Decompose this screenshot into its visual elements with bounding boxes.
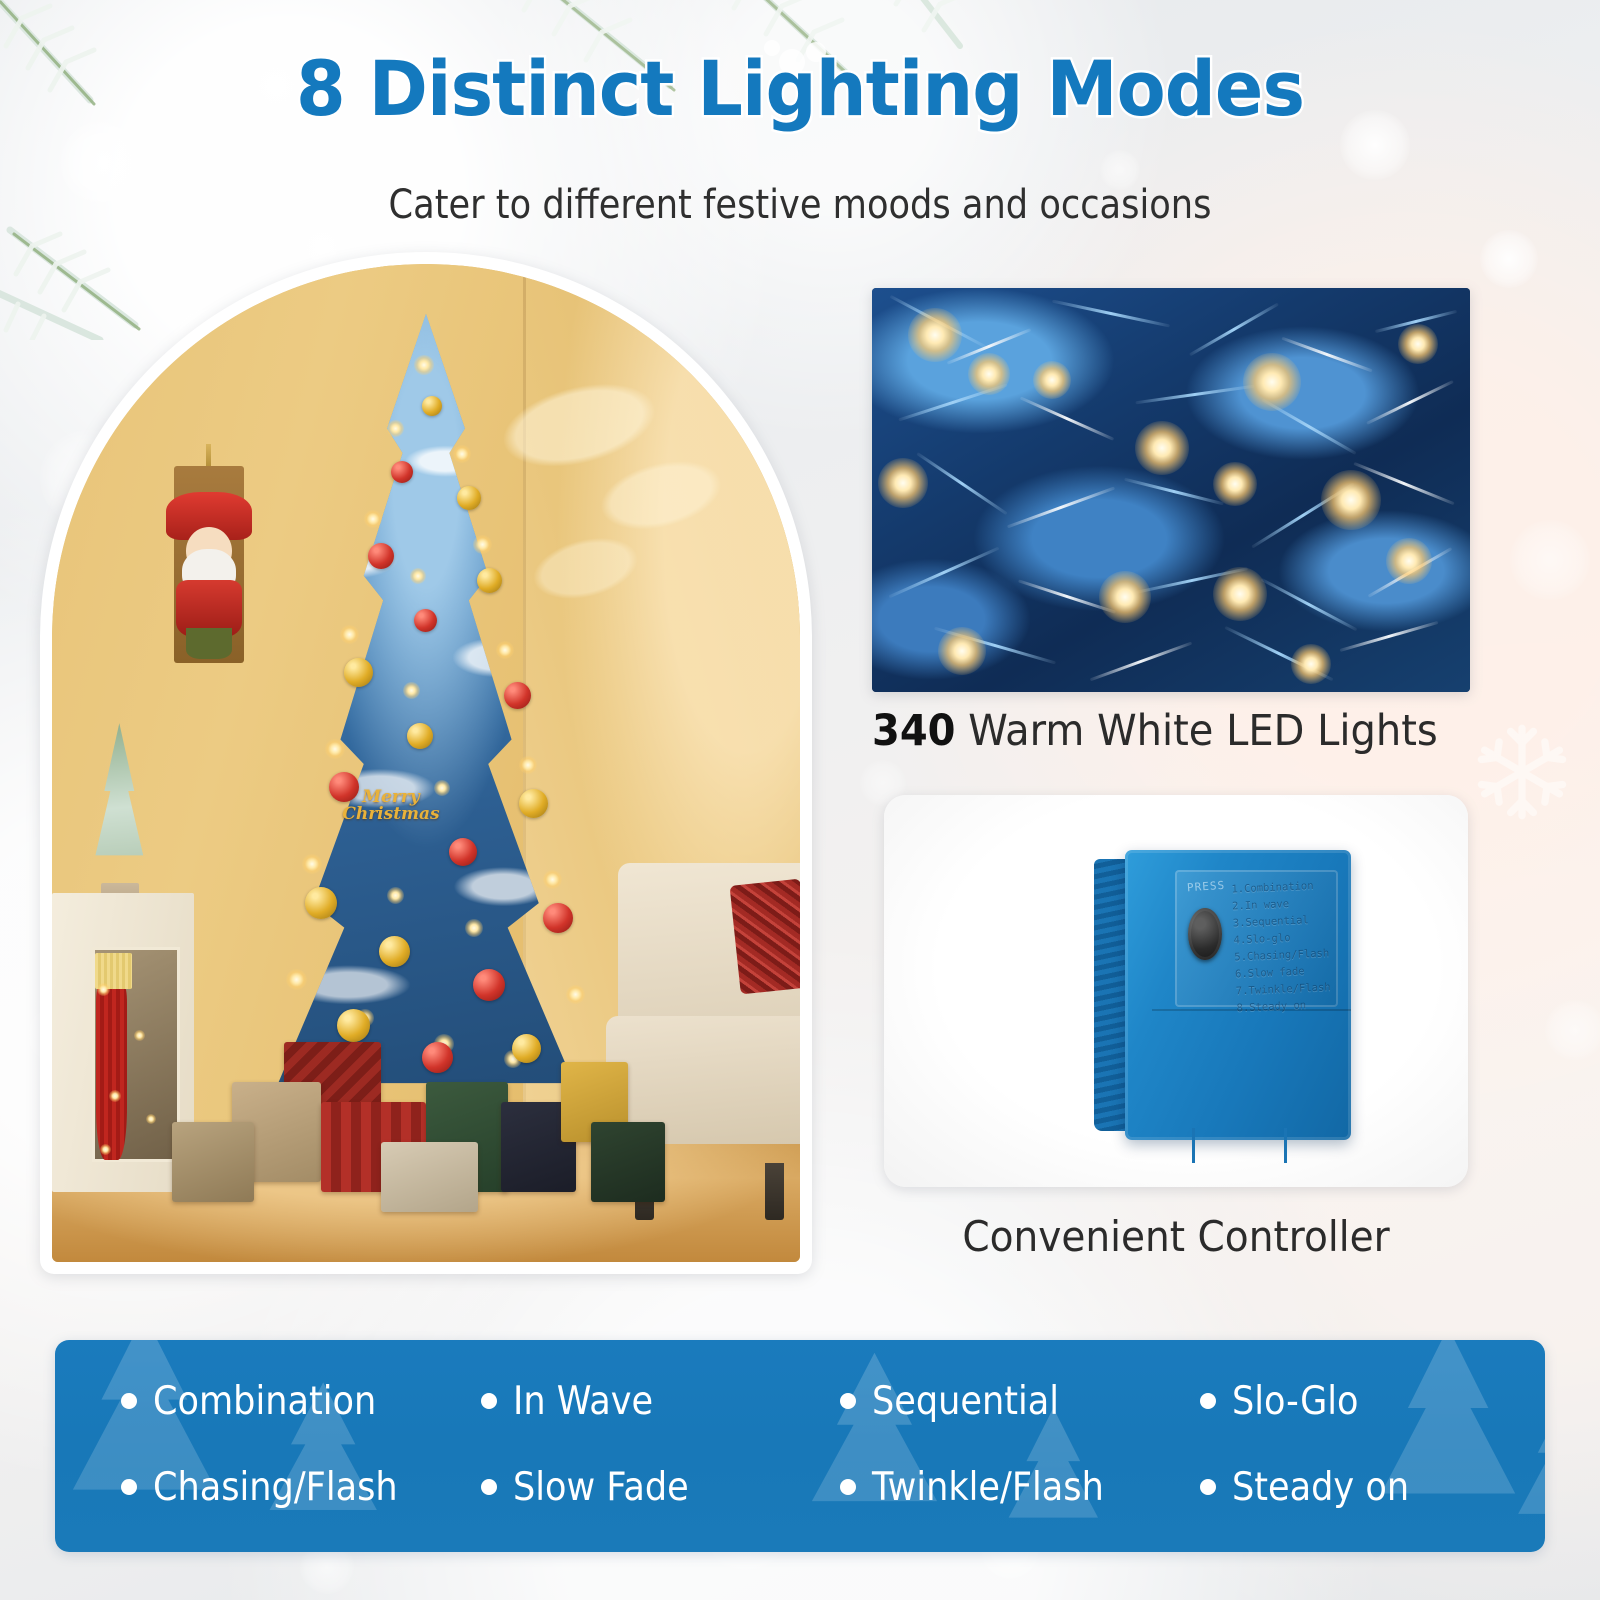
controller-caption: Convenient Controller [904,1212,1447,1261]
page-subtitle: Cater to different festive moods and occ… [96,182,1504,228]
led-count-label: Warm White LED Lights [955,706,1437,756]
controller-modes-list: 1.Combination 2.In wave 3.Sequential 4.S… [1231,876,1350,1017]
mode-label: Steady on [1232,1465,1409,1510]
led-closeup-photo [872,288,1470,692]
mode-item-steady-on[interactable]: Steady on [1160,1465,1520,1510]
bullet-icon [121,1479,137,1495]
mode-label: Slow Fade [513,1465,689,1510]
mode-item-twinkle-flash[interactable]: Twinkle/Flash [800,1465,1160,1510]
bullet-icon [121,1393,137,1409]
mode-label: Sequential [872,1379,1059,1424]
merry-christmas-ornament: Merry Christmas [333,789,450,854]
mode-label: In Wave [513,1379,653,1424]
page-title: 8 Distinct Lighting Modes [48,44,1552,133]
mode-label: Combination [153,1379,376,1424]
light-controller: PRESS 1.Combination 2.In wave 3.Sequenti… [1094,850,1351,1140]
mode-label: Twinkle/Flash [872,1465,1104,1510]
mode-item-in-wave[interactable]: In Wave [441,1379,801,1424]
bullet-icon [840,1393,856,1409]
mode-item-sequential[interactable]: Sequential [800,1379,1160,1424]
bullet-icon [1200,1393,1216,1409]
bullet-icon [1200,1479,1216,1495]
bullet-icon [840,1479,856,1495]
controller-photo-card: PRESS 1.Combination 2.In wave 3.Sequenti… [884,795,1468,1187]
mode-label: Slo-Glo [1232,1379,1359,1424]
lighting-modes-banner: Combination In Wave Sequential Slo-Glo C… [55,1340,1545,1552]
blue-flocked-christmas-tree: Merry Christmas [232,314,621,1132]
mode-item-slow-fade[interactable]: Slow Fade [441,1465,801,1510]
main-room-photo: Merry Christmas [40,252,812,1274]
mode-item-combination[interactable]: Combination [81,1379,441,1424]
bullet-icon [481,1393,497,1409]
mode-label: Chasing/Flash [153,1465,398,1510]
led-count-value: 340 [872,706,955,756]
bullet-icon [481,1479,497,1495]
mode-item-slo-glo[interactable]: Slo-Glo [1160,1379,1520,1424]
mode-item-chasing-flash[interactable]: Chasing/Flash [81,1465,441,1510]
led-count-caption: 340 Warm White LED Lights [872,706,1449,756]
